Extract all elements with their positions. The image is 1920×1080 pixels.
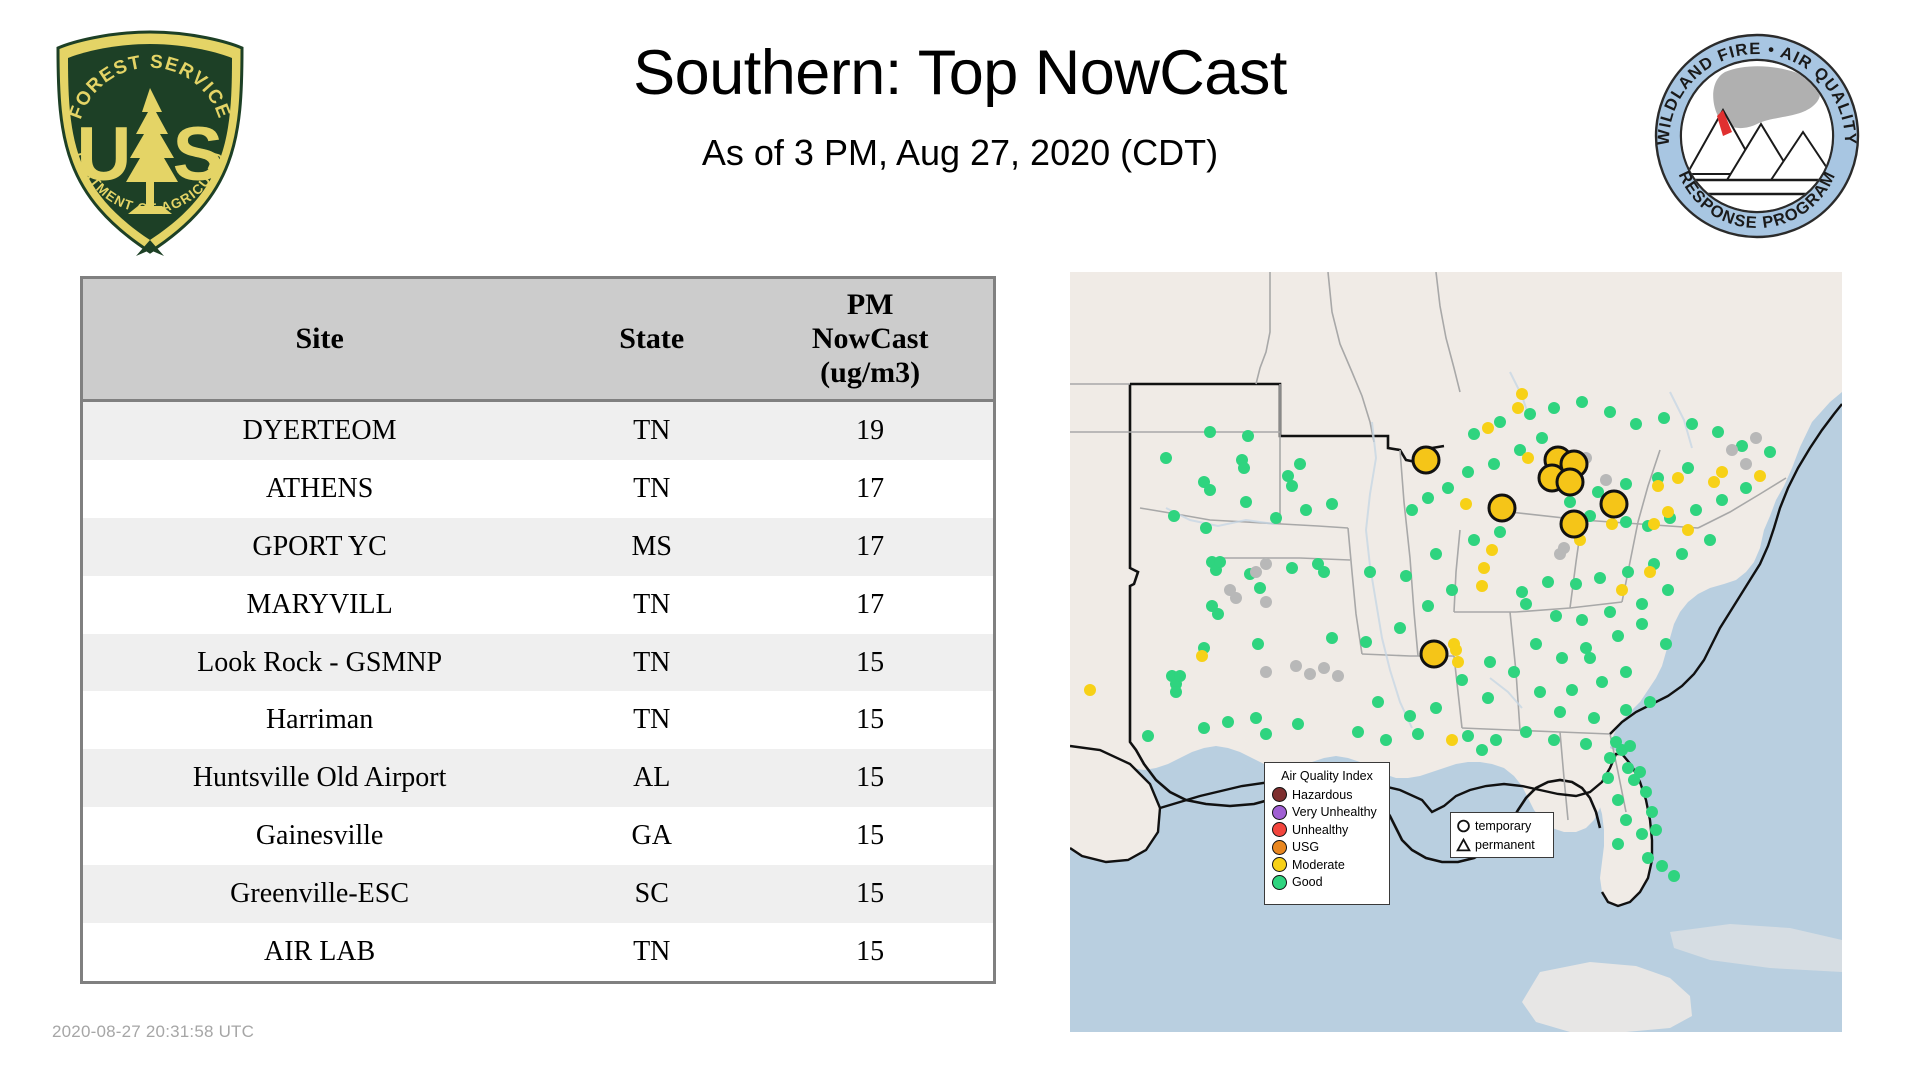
aqi-legend-row: Very Unhealthy [1272,804,1382,822]
monitor-type-row-permanent: permanent [1456,835,1548,854]
page-title: Southern: Top NowCast [300,40,1620,106]
nowcast-table: Site State PM NowCast (ug/m3) DYERTEOMTN… [83,279,993,981]
cell-state: TN [556,923,747,981]
aqi-legend-row: Good [1272,874,1382,892]
table-body: DYERTEOMTN19ATHENSTN17GPORT YCMS17MARYVI… [83,401,993,982]
table-row: HarrimanTN15 [83,691,993,749]
map-canvas [1070,272,1842,1032]
cell-site: Look Rock - GSMNP [83,634,556,692]
monitor-type-label-permanent: permanent [1475,838,1535,852]
cell-pm-nowcast: 17 [747,460,993,518]
air-quality-monitor-map[interactable]: Air Quality Index HazardousVery Unhealth… [1070,272,1842,1032]
table-header: Site State PM NowCast (ug/m3) [83,279,993,401]
cell-site: GPORT YC [83,518,556,576]
cell-pm-nowcast: 15 [747,691,993,749]
cell-pm-nowcast: 17 [747,518,993,576]
cell-site: DYERTEOM [83,401,556,460]
table-row: AIR LABTN15 [83,923,993,981]
cell-state: TN [556,691,747,749]
aqi-legend-swatch-icon [1272,857,1287,872]
top-site-marker-huntsville [1489,495,1515,521]
table-row: Huntsville Old AirportAL15 [83,749,993,807]
top-site-marker-greenville-esc [1601,491,1627,517]
aqi-legend-label: Moderate [1292,858,1345,872]
column-header-pm-line2: NowCast [747,322,993,356]
top-site-marker-gport-yc [1421,641,1447,667]
title-block: Southern: Top NowCast As of 3 PM, Aug 27… [300,40,1620,174]
cell-pm-nowcast: 15 [747,865,993,923]
page-header: FOREST SERVICE U S DEPARTMENT OF AGRICUL… [0,0,1920,258]
cell-pm-nowcast: 15 [747,634,993,692]
cell-state: TN [556,576,747,634]
column-header-site: Site [83,279,556,401]
aqi-legend-swatch-icon [1272,822,1287,837]
cell-site: Huntsville Old Airport [83,749,556,807]
temporary-circle-icon [1456,818,1471,834]
cell-state: TN [556,634,747,692]
cell-state: TN [556,460,747,518]
column-header-pm-nowcast: PM NowCast (ug/m3) [747,279,993,401]
table-row: ATHENSTN17 [83,460,993,518]
aqi-legend-label: Very Unhealthy [1292,805,1377,819]
cell-state: TN [556,401,747,460]
cell-pm-nowcast: 19 [747,401,993,460]
cell-state: MS [556,518,747,576]
top-site-marker-dyerteom [1413,447,1439,473]
cell-state: GA [556,807,747,865]
aqi-legend-row: Hazardous [1272,786,1382,804]
aqi-legend-swatch-icon [1272,875,1287,890]
aqi-legend-items: HazardousVery UnhealthyUnhealthyUSGModer… [1272,786,1382,891]
cell-site: ATHENS [83,460,556,518]
aqi-legend-swatch-icon [1272,840,1287,855]
cell-pm-nowcast: 17 [747,576,993,634]
table-row: MARYVILLTN17 [83,576,993,634]
column-header-pm-line1: PM [747,288,993,322]
table-row: Look Rock - GSMNPTN15 [83,634,993,692]
aqi-legend-title: Air Quality Index [1272,769,1382,783]
cell-site: AIR LAB [83,923,556,981]
cell-site: MARYVILL [83,576,556,634]
aqi-legend-label: Unhealthy [1292,823,1348,837]
aqi-legend-label: USG [1292,840,1319,854]
cell-pm-nowcast: 15 [747,749,993,807]
table-row: Greenville-ESCSC15 [83,865,993,923]
nowcast-table-panel: Site State PM NowCast (ug/m3) DYERTEOMTN… [80,276,996,984]
top-site-marker-gainesville [1561,511,1587,537]
usda-forest-service-shield-logo: FOREST SERVICE U S DEPARTMENT OF AGRICUL… [52,28,248,256]
monitor-type-legend: temporary permanent [1450,812,1554,858]
column-header-state: State [556,279,747,401]
aqi-legend-swatch-icon [1272,805,1287,820]
cell-state: SC [556,865,747,923]
top-site-marker-look-rock [1557,469,1583,495]
permanent-triangle-icon [1456,837,1471,853]
monitor-type-label-temporary: temporary [1475,819,1531,833]
table-row: DYERTEOMTN19 [83,401,993,460]
aqi-legend-swatch-icon [1272,787,1287,802]
cell-pm-nowcast: 15 [747,807,993,865]
aqi-legend-row: Moderate [1272,856,1382,874]
aqi-legend: Air Quality Index HazardousVery Unhealth… [1264,762,1390,905]
footer-timestamp: 2020-08-27 20:31:58 UTC [52,1022,254,1042]
cell-site: Harriman [83,691,556,749]
column-header-pm-line3: (ug/m3) [747,356,993,390]
table-header-row: Site State PM NowCast (ug/m3) [83,279,993,401]
cell-site: Gainesville [83,807,556,865]
table-row: GPORT YCMS17 [83,518,993,576]
cell-pm-nowcast: 15 [747,923,993,981]
wildland-fire-air-quality-seal-logo: WILDLAND FIRE • AIR QUALITY RESPONSE PRO… [1653,32,1861,240]
table-row: GainesvilleGA15 [83,807,993,865]
cell-site: Greenville-ESC [83,865,556,923]
aqi-legend-row: USG [1272,839,1382,857]
aqi-legend-label: Good [1292,875,1323,889]
aqi-legend-label: Hazardous [1292,788,1352,802]
page-subtitle: As of 3 PM, Aug 27, 2020 (CDT) [300,132,1620,174]
cell-state: AL [556,749,747,807]
monitor-type-row-temporary: temporary [1456,816,1548,835]
aqi-legend-row: Unhealthy [1272,821,1382,839]
